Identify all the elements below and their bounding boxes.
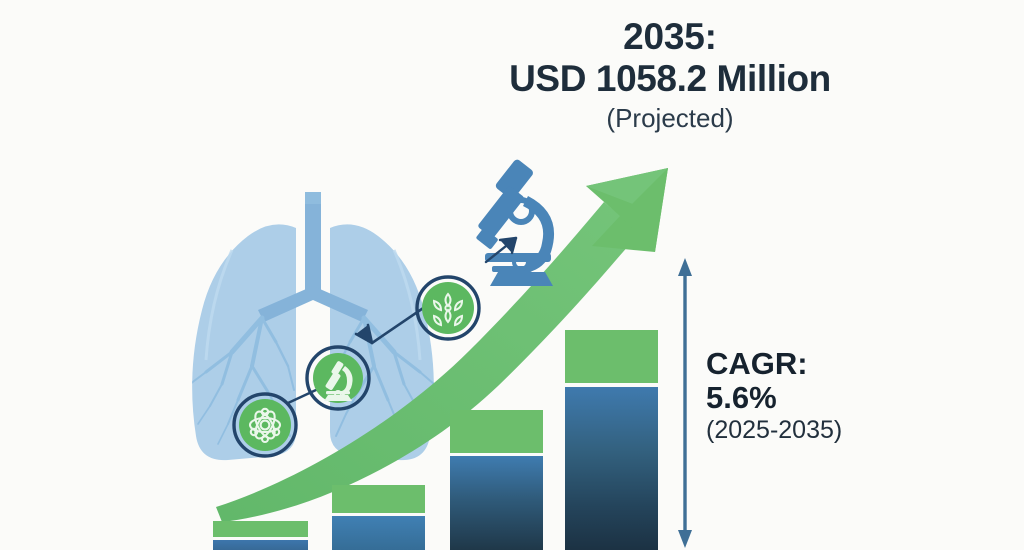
bar-cap-2 — [332, 485, 425, 513]
bar-group-2 — [332, 485, 425, 550]
bar-body-2 — [332, 516, 425, 550]
badge-cells-fill — [422, 282, 474, 334]
bar-cap-3 — [450, 410, 543, 453]
headline-year: 2035: — [440, 18, 900, 56]
cagr-value: 5.6% — [706, 382, 936, 415]
bar-body-1 — [213, 540, 308, 550]
badge-microscope — [307, 347, 369, 409]
cagr-label: CAGR: — [706, 348, 936, 381]
infographic-canvas: 2035: USD 1058.2 Million (Projected) CAG… — [0, 0, 1024, 550]
trachea — [305, 192, 321, 290]
bar-cap-1 — [213, 521, 308, 537]
bar-group-3 — [450, 410, 543, 550]
headline-value: USD 1058.2 Million — [440, 60, 900, 98]
cagr-range: (2025-2035) — [706, 417, 936, 444]
badge-cells — [417, 277, 479, 339]
bar-group-4 — [565, 330, 658, 550]
badge-atom-fill — [239, 399, 291, 451]
bar-body-4 — [565, 387, 658, 550]
bar-group-1 — [213, 521, 308, 550]
bar-cap-4 — [565, 330, 658, 383]
badge-atom — [234, 394, 296, 456]
bar-body-3 — [450, 456, 543, 550]
headline-note: (Projected) — [440, 105, 900, 132]
cagr-block: CAGR: 5.6% (2025-2035) — [706, 348, 936, 443]
headline-block: 2035: USD 1058.2 Million (Projected) — [440, 18, 900, 132]
